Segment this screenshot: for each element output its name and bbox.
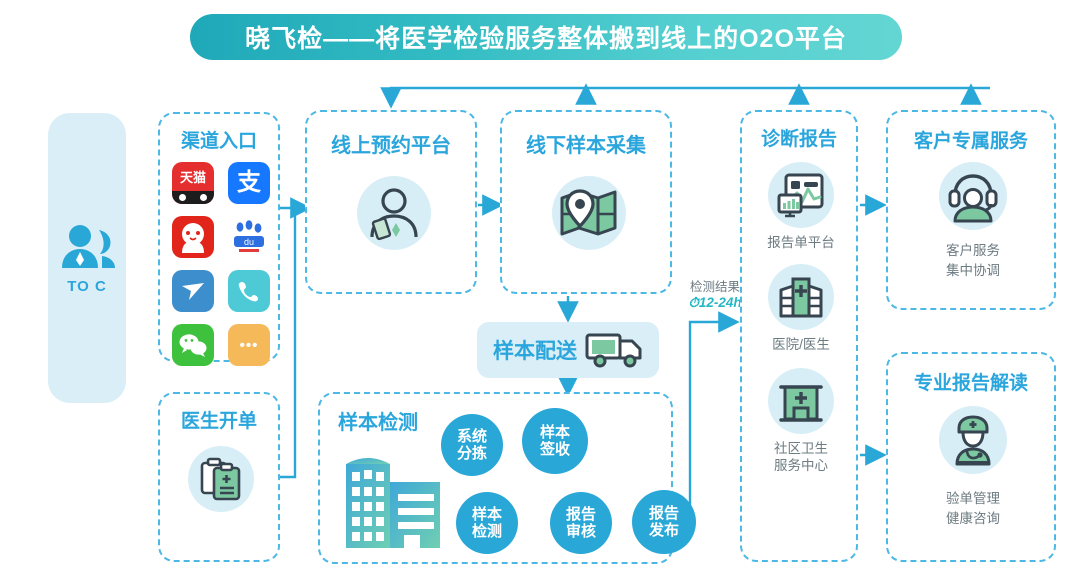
channel-entry-title: 渠道入口: [160, 126, 278, 153]
to-c-panel: TO C: [48, 113, 126, 403]
wechat-icon[interactable]: [172, 324, 214, 366]
node-system-sorting[interactable]: 系统分拣: [441, 414, 503, 476]
card-diagnostic-report[interactable]: 诊断报告 报告单平台 医院/医生: [740, 110, 858, 562]
monitor-chart-icon: [778, 173, 824, 217]
page-title: 晓飞检——将医学检验服务整体搬到线上的O2O平台: [245, 19, 847, 55]
customer-service-sub1: 客户服务: [888, 242, 1058, 259]
node-sample-receipt[interactable]: 样本签收: [522, 408, 588, 474]
pro-report-sub1: 验单管理: [888, 490, 1058, 507]
phone-icon[interactable]: [228, 270, 270, 312]
online-booking-title: 线上预约平台: [307, 129, 475, 158]
hospital-icon-bg: [768, 264, 834, 330]
report-platform-label: 报告单平台: [742, 234, 860, 251]
customer-service-sub2: 集中协调: [888, 262, 1058, 279]
card-sample-testing[interactable]: 样本检测 样本签收: [318, 392, 673, 564]
community-center-label: 社区卫生服务中心: [742, 440, 860, 474]
sample-delivery-label: 样本配送: [493, 335, 577, 365]
tmall-icon[interactable]: 天猫: [172, 162, 214, 204]
pro-report-sub2: 健康咨询: [888, 510, 1058, 527]
clock-icon: ⏱: [688, 295, 699, 310]
lab-building-icon: [338, 442, 448, 552]
card-pro-report[interactable]: 专业报告解读 验单管理 健康咨询: [886, 352, 1056, 562]
person-mobile-icon: [366, 187, 422, 239]
clinic-icon-bg: [768, 368, 834, 434]
more-icon[interactable]: •••: [228, 324, 270, 366]
headset-agent-icon: [947, 171, 999, 221]
offline-collection-icon-bg: [552, 176, 626, 250]
customer-service-icon-bg: [939, 162, 1007, 230]
pro-report-title: 专业报告解读: [888, 368, 1054, 395]
page-title-banner: 晓飞检——将医学检验服务整体搬到线上的O2O平台: [190, 14, 902, 60]
infographic-canvas: 晓飞检——将医学检验服务整体搬到线上的O2O平台 TO C 渠道入口 天猫 支: [0, 0, 1087, 578]
customer-service-title: 客户专属服务: [888, 126, 1054, 153]
node-sample-test[interactable]: 样本检测: [456, 492, 518, 554]
sample-delivery-pill[interactable]: 样本配送: [477, 322, 659, 378]
diagnostic-report-title: 诊断报告: [742, 124, 856, 151]
report-platform-icon-bg: [768, 162, 834, 228]
doctor-icon: [947, 414, 999, 466]
node-report-review-label: 报告审核: [566, 506, 596, 540]
node-sample-receipt-label: 样本签收: [540, 424, 570, 458]
svg-text:du: du: [244, 237, 254, 247]
card-doctor-order[interactable]: 医生开单: [158, 392, 280, 562]
pro-report-icon-bg: [939, 406, 1007, 474]
node-report-publish-label: 报告发布: [649, 505, 679, 539]
offline-collection-title: 线下样本采集: [502, 129, 670, 158]
online-booking-icon-bg: [357, 176, 431, 250]
sample-testing-title: 样本检测: [338, 406, 418, 435]
card-channel-entry[interactable]: 渠道入口 天猫 支: [158, 112, 280, 362]
alipay-icon[interactable]: 支: [228, 162, 270, 204]
hospital-doctor-label: 医院/医生: [742, 336, 860, 353]
app-icon-grid: 天猫 支 du: [172, 162, 270, 366]
node-report-publish[interactable]: 报告发布: [632, 490, 696, 554]
jd-icon[interactable]: [172, 216, 214, 258]
card-online-booking[interactable]: 线上预约平台: [305, 110, 477, 294]
node-system-sorting-label: 系统分拣: [457, 428, 487, 462]
card-offline-collection[interactable]: 线下样本采集: [500, 110, 672, 294]
users-icon: [58, 222, 116, 272]
doctor-order-title: 医生开单: [160, 406, 278, 433]
truck-icon: [585, 331, 643, 369]
hospital-icon: [778, 276, 824, 318]
clipboard-prescription-icon: [201, 457, 241, 501]
doctor-order-icon-bg: [188, 446, 254, 512]
dingtalk-icon[interactable]: [172, 270, 214, 312]
node-report-review[interactable]: 报告审核: [550, 492, 612, 554]
map-pin-icon: [560, 188, 618, 238]
clinic-icon: [778, 379, 824, 423]
to-c-label: TO C: [67, 278, 107, 295]
baidu-icon[interactable]: du: [228, 216, 270, 258]
card-customer-service[interactable]: 客户专属服务 客户服务 集中协调: [886, 110, 1056, 310]
node-sample-test-label: 样本检测: [472, 506, 502, 540]
